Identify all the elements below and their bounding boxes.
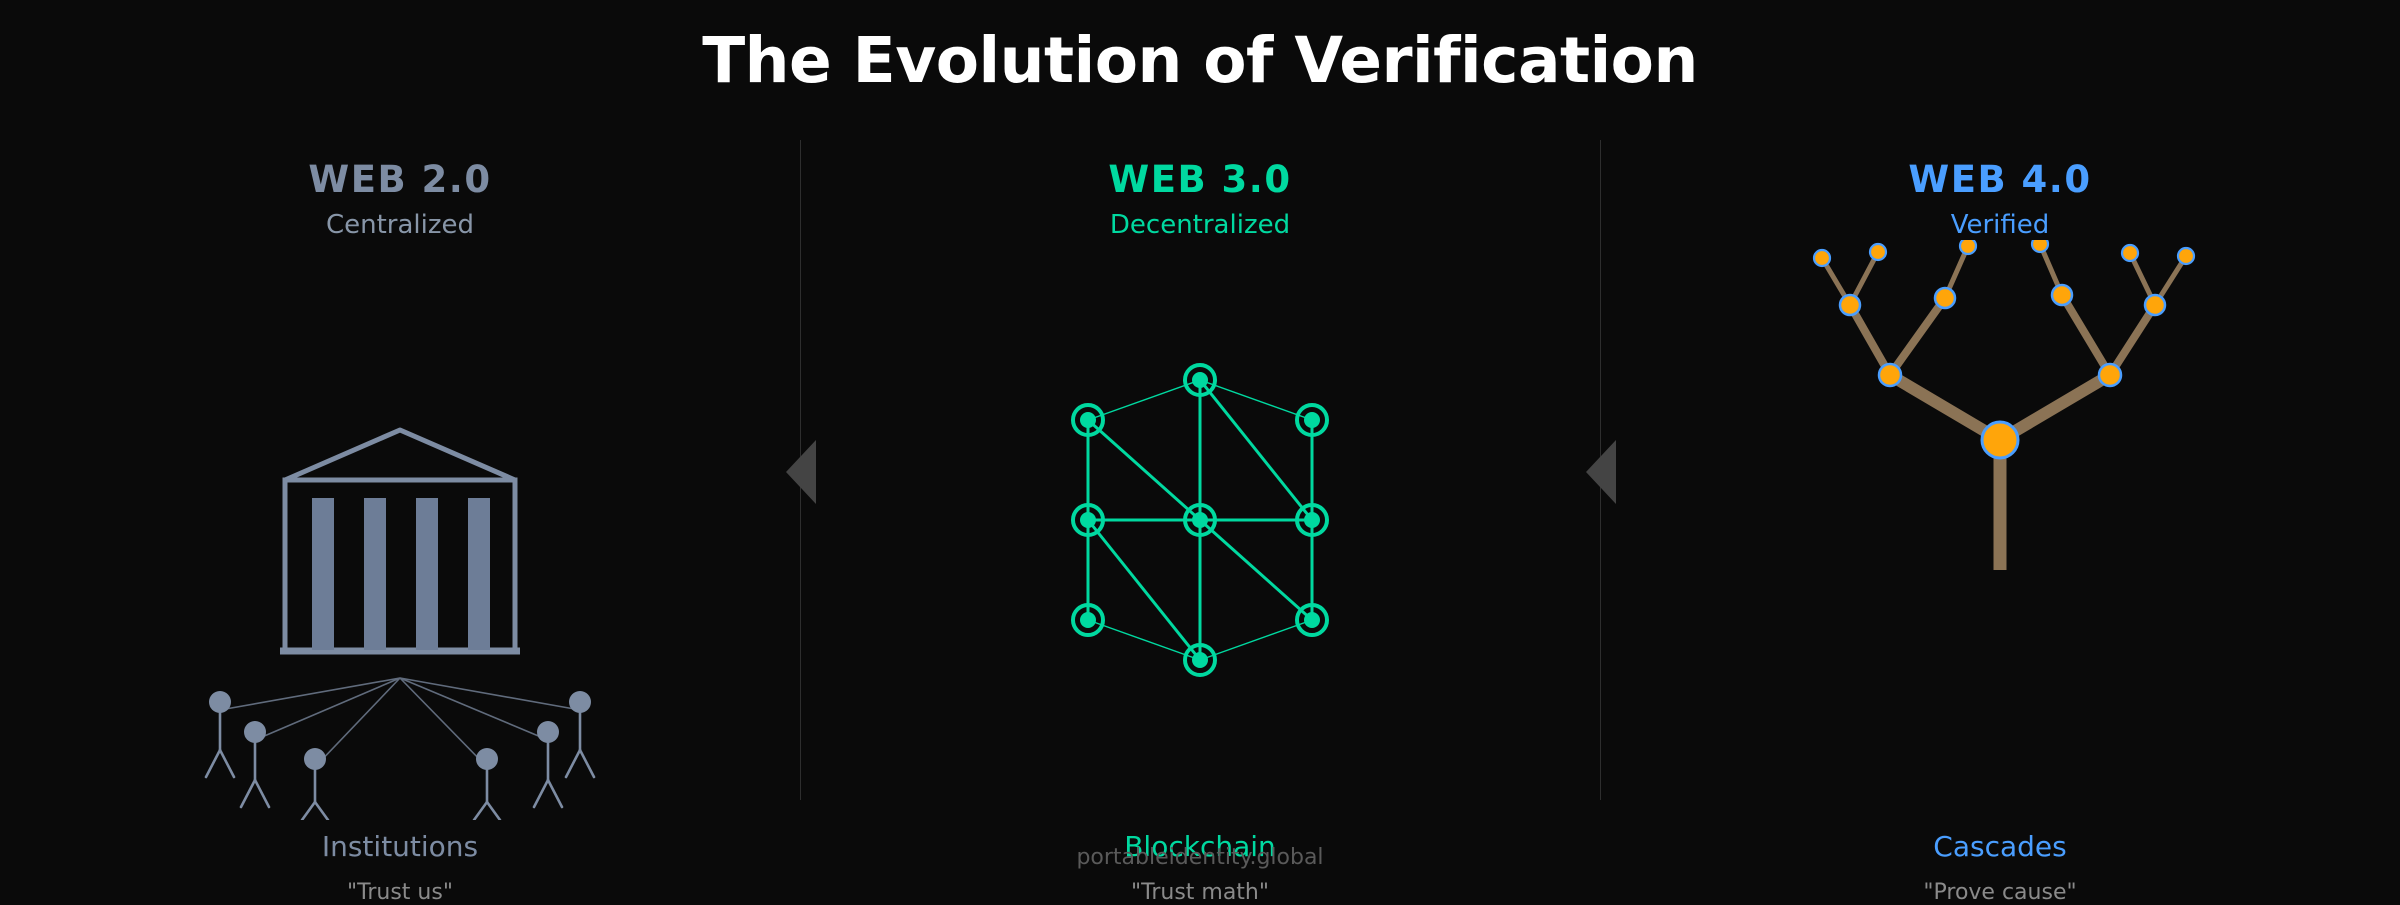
arrow-left-icon-1 <box>786 440 816 504</box>
web3-footer-quote: "Trust math" <box>800 880 1600 905</box>
infographic-canvas: The Evolution of Verification WEB 2.0 Ce… <box>0 0 2400 900</box>
web4-subheading: Verified <box>1600 210 2400 240</box>
web4-heading: WEB 4.0 <box>1600 158 2400 201</box>
web2-subheading: Centralized <box>0 210 800 240</box>
column-web4: WEB 4.0 Verified <box>1600 140 2400 820</box>
web2-footer-quote: "Trust us" <box>0 880 800 905</box>
web3-subheading: Decentralized <box>800 210 1600 240</box>
web4-footer-quote: "Prove cause" <box>1600 880 2400 905</box>
web3-heading: WEB 3.0 <box>800 158 1600 201</box>
arrow-left-icon-2 <box>1586 440 1616 504</box>
column-web2: WEB 2.0 Centralized <box>0 140 800 820</box>
column-web3: WEB 3.0 Decentralized <box>800 140 1600 820</box>
temple-with-people-icon <box>0 240 800 820</box>
mesh-network-icon <box>800 240 1600 820</box>
web2-heading: WEB 2.0 <box>0 158 800 201</box>
branching-tree-icon <box>1600 240 2400 820</box>
site-footer: portableidentity.global <box>0 845 2400 870</box>
page-title: The Evolution of Verification <box>0 24 2400 97</box>
